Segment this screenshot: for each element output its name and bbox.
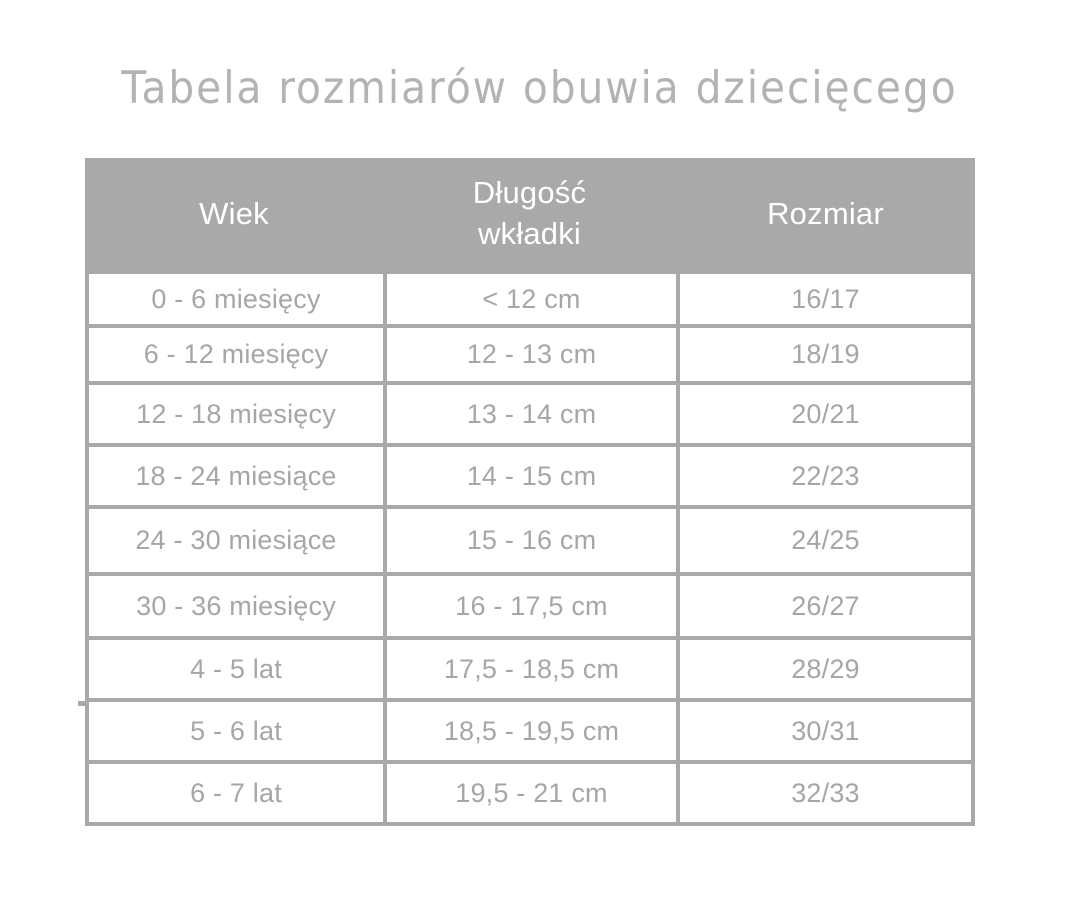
cell-size-label: 30/31 [680, 716, 971, 747]
cell-size-label: 28/29 [680, 654, 971, 685]
cell-insole-length: 19,5 - 21 cm [383, 760, 676, 826]
cell-age-label: 6 - 7 lat [89, 778, 383, 809]
cell-size-label: 26/27 [680, 591, 971, 622]
cell-age-label: 6 - 12 miesięcy [89, 339, 383, 370]
cell-size-label: 18/19 [680, 339, 971, 370]
cell-insole-length: 16 - 17,5 cm [383, 572, 676, 636]
cell-insole-length-label: 16 - 17,5 cm [387, 591, 676, 622]
table-row: 6 - 12 miesięcy12 - 13 cm18/19 [85, 324, 975, 381]
cell-insole-length-label: 17,5 - 18,5 cm [387, 654, 676, 685]
column-header-insole-length: Długość wkładki [383, 158, 676, 270]
cell-insole-length: 13 - 14 cm [383, 381, 676, 443]
column-header-age-label: Wiek [85, 194, 383, 235]
cell-insole-length: 18,5 - 19,5 cm [383, 698, 676, 760]
page-title: Tabela rozmiarów obuwia dziecięcego [16, 64, 1063, 113]
cell-size-label: 16/17 [680, 284, 971, 315]
cell-insole-length: 17,5 - 18,5 cm [383, 636, 676, 698]
cell-age: 4 - 5 lat [85, 636, 383, 698]
cell-age-label: 30 - 36 miesięcy [89, 591, 383, 622]
cell-age-label: 0 - 6 miesięcy [89, 284, 383, 315]
cell-size: 30/31 [676, 698, 975, 760]
cell-size: 16/17 [676, 270, 975, 324]
cell-age: 6 - 12 miesięcy [85, 324, 383, 381]
cell-size-label: 20/21 [680, 399, 971, 430]
cell-size: 24/25 [676, 505, 975, 572]
cell-size: 22/23 [676, 443, 975, 505]
table-row: 5 - 6 lat18,5 - 19,5 cm30/31 [85, 698, 975, 760]
cell-age-label: 12 - 18 miesięcy [89, 399, 383, 430]
cell-age: 18 - 24 miesiące [85, 443, 383, 505]
cell-insole-length-label: 19,5 - 21 cm [387, 778, 676, 809]
table-row: 12 - 18 miesięcy13 - 14 cm20/21 [85, 381, 975, 443]
size-chart-container: Wiek Długość wkładki Rozmiar 0 - 6 miesi… [85, 158, 975, 826]
column-header-size-label: Rozmiar [676, 194, 975, 235]
column-header-insole-length-line1: Długość [383, 173, 676, 214]
cell-size-label: 22/23 [680, 461, 971, 492]
cell-insole-length: < 12 cm [383, 270, 676, 324]
table-row: 6 - 7 lat19,5 - 21 cm32/33 [85, 760, 975, 826]
scan-artifact-tick [78, 701, 87, 706]
table-row: 30 - 36 miesięcy16 - 17,5 cm26/27 [85, 572, 975, 636]
table-body: 0 - 6 miesięcy< 12 cm16/176 - 12 miesięc… [85, 270, 975, 826]
table-row: 0 - 6 miesięcy< 12 cm16/17 [85, 270, 975, 324]
cell-age: 30 - 36 miesięcy [85, 572, 383, 636]
cell-insole-length: 15 - 16 cm [383, 505, 676, 572]
cell-size-label: 24/25 [680, 525, 971, 556]
cell-age: 5 - 6 lat [85, 698, 383, 760]
table-row: 24 - 30 miesiące15 - 16 cm24/25 [85, 505, 975, 572]
cell-insole-length-label: 18,5 - 19,5 cm [387, 716, 676, 747]
column-header-age: Wiek [85, 158, 383, 270]
cell-insole-length-label: < 12 cm [387, 284, 676, 315]
cell-insole-length-label: 12 - 13 cm [387, 339, 676, 370]
cell-age-label: 24 - 30 miesiące [89, 525, 383, 556]
cell-insole-length: 12 - 13 cm [383, 324, 676, 381]
cell-age: 6 - 7 lat [85, 760, 383, 826]
cell-size-label: 32/33 [680, 778, 971, 809]
table-row: 4 - 5 lat17,5 - 18,5 cm28/29 [85, 636, 975, 698]
cell-insole-length-label: 13 - 14 cm [387, 399, 676, 430]
shoe-size-table: Wiek Długość wkładki Rozmiar 0 - 6 miesi… [85, 158, 975, 826]
table-header: Wiek Długość wkładki Rozmiar [85, 158, 975, 270]
cell-age-label: 5 - 6 lat [89, 716, 383, 747]
cell-insole-length: 14 - 15 cm [383, 443, 676, 505]
cell-age-label: 4 - 5 lat [89, 654, 383, 685]
column-header-insole-length-line2: wkładki [383, 214, 676, 255]
cell-size: 32/33 [676, 760, 975, 826]
cell-age: 24 - 30 miesiące [85, 505, 383, 572]
table-row: 18 - 24 miesiące14 - 15 cm22/23 [85, 443, 975, 505]
cell-size: 18/19 [676, 324, 975, 381]
cell-age: 0 - 6 miesięcy [85, 270, 383, 324]
cell-age-label: 18 - 24 miesiące [89, 461, 383, 492]
cell-size: 28/29 [676, 636, 975, 698]
cell-insole-length-label: 14 - 15 cm [387, 461, 676, 492]
cell-age: 12 - 18 miesięcy [85, 381, 383, 443]
header-row: Wiek Długość wkładki Rozmiar [85, 158, 975, 270]
cell-size: 20/21 [676, 381, 975, 443]
column-header-size: Rozmiar [676, 158, 975, 270]
cell-insole-length-label: 15 - 16 cm [387, 525, 676, 556]
cell-size: 26/27 [676, 572, 975, 636]
